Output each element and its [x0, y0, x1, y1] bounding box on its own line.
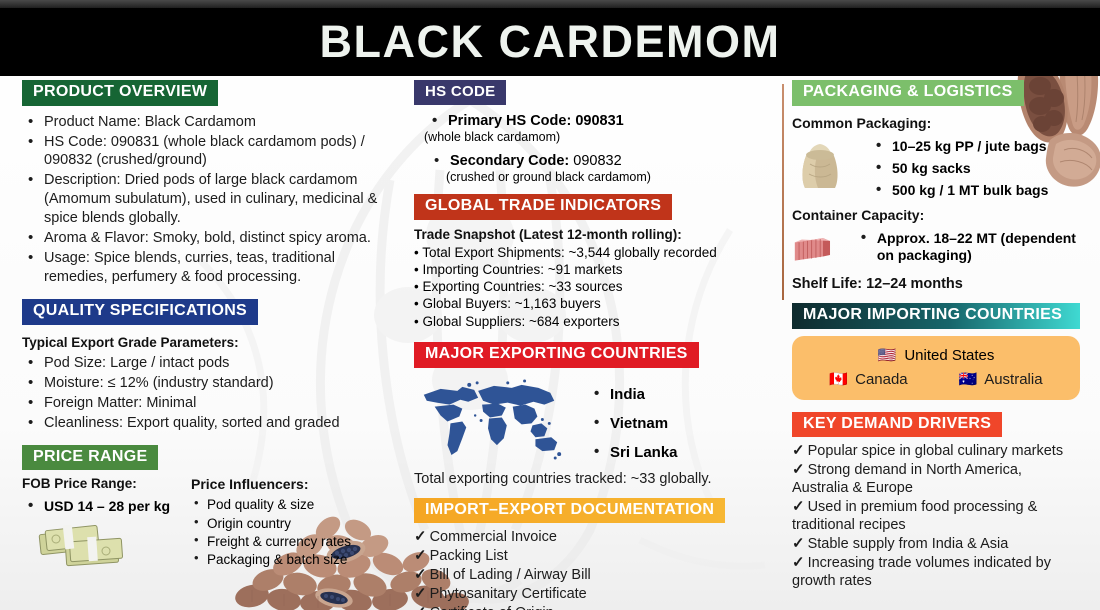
quality-specs-subtitle: Typical Export Grade Parameters:: [22, 335, 394, 350]
quality-specs-list: Pod Size: Large / intact pods Moisture: …: [22, 354, 394, 432]
major-exporting-heading: MAJOR EXPORTING COUNTRIES: [414, 342, 699, 368]
secondary-hs-list: Secondary Code: 090832: [428, 153, 774, 169]
major-importing-heading: MAJOR IMPORTING COUNTRIES: [792, 303, 1080, 329]
list-item: Origin country: [191, 515, 394, 532]
list-item: Description: Dried pods of large black c…: [22, 171, 394, 228]
common-packaging-body: 10–25 kg PP / jute bags 50 kg sacks 500 …: [792, 136, 1080, 199]
jute-sack-icon: [792, 136, 848, 192]
importing-country-label: Canada: [855, 371, 908, 388]
cash-stack-icon: [32, 518, 128, 574]
list-item: Moisture: ≤ 12% (industry standard): [22, 374, 394, 393]
primary-hs-code: Primary HS Code: 090831: [426, 113, 774, 129]
key-demand-list: ✓Popular spice in global culinary market…: [792, 442, 1080, 591]
demand-label: Strong demand in North America, Australi…: [792, 462, 1022, 496]
column-divider: [782, 84, 784, 300]
importing-country-australia: 🇦🇺 Australia: [959, 371, 1043, 388]
list-item: Foreign Matter: Minimal: [22, 394, 394, 413]
packaging-heading: PACKAGING & LOGISTICS: [792, 80, 1024, 106]
doc-label: Certificate of Origin: [430, 605, 554, 610]
import-export-doc-heading: IMPORT–EXPORT DOCUMENTATION: [414, 498, 725, 524]
list-item: Packaging & batch size: [191, 551, 394, 568]
list-item: • Global Buyers: ~1,163 buyers: [414, 295, 774, 312]
exporting-footnote: Total exporting countries tracked: ~33 g…: [414, 470, 774, 489]
shelf-life: Shelf Life: 12–24 months: [792, 276, 1080, 292]
check-icon: ✓: [414, 528, 427, 545]
flag-icon-united-states: 🇺🇸: [878, 348, 897, 363]
product-overview-heading: PRODUCT OVERVIEW: [22, 80, 218, 106]
trade-snapshot-subtitle: Trade Snapshot (Latest 12-month rolling)…: [414, 227, 774, 242]
list-item: Pod Size: Large / intact pods: [22, 354, 394, 373]
list-item: ✓Phytosanitary Certificate: [414, 585, 774, 604]
list-item: Pod quality & size: [191, 496, 394, 513]
shipping-container-icon: [792, 228, 833, 268]
exporting-countries-list: India Vietnam Sri Lanka: [588, 386, 678, 462]
left-column: PRODUCT OVERVIEW Product Name: Black Car…: [22, 80, 394, 574]
list-item: ✓Commercial Invoice: [414, 528, 774, 547]
secondary-hs-code: Secondary Code: 090832: [428, 153, 774, 169]
list-item: ✓Used in premium food processing & tradi…: [792, 498, 1080, 535]
fob-price-value: USD 14 – 28 per kg: [22, 498, 177, 514]
importing-country-canada: 🇨🇦 Canada: [829, 371, 907, 388]
common-packaging-list: 10–25 kg PP / jute bags 50 kg sacks 500 …: [870, 138, 1048, 199]
secondary-hs-label: Secondary Code:: [450, 153, 569, 169]
doc-label: Phytosanitary Certificate: [430, 586, 587, 602]
importing-row-primary: 🇺🇸 United States: [804, 347, 1068, 364]
list-item: • Exporting Countries: ~33 sources: [414, 278, 774, 295]
list-item: Product Name: Black Cardamom: [22, 113, 394, 132]
list-item: ✓Packing List: [414, 547, 774, 566]
right-column: PACKAGING & LOGISTICS Common Packaging: …: [792, 80, 1080, 591]
importing-country-label: Australia: [984, 371, 1042, 388]
container-capacity-body: Approx. 18–22 MT (dependent on packaging…: [792, 228, 1080, 268]
list-item: 50 kg sacks: [870, 160, 1048, 176]
page-header: BLACK CARDEMOM: [0, 8, 1100, 76]
demand-label: Popular spice in global culinary markets: [808, 443, 1064, 459]
list-item: • Importing Countries: ~91 markets: [414, 261, 774, 278]
primary-hs-note: (whole black cardamom): [424, 130, 774, 144]
list-item: Aroma & Flavor: Smoky, bold, distinct sp…: [22, 229, 394, 248]
secondary-hs-note: (crushed or ground black cardamom): [446, 170, 774, 184]
import-export-doc-list: ✓Commercial Invoice ✓Packing List ✓Bill …: [414, 528, 774, 610]
check-icon: ✓: [792, 461, 805, 478]
price-range-body: FOB Price Range: USD 14 – 28 per kg: [22, 476, 394, 574]
importing-country-label: United States: [904, 347, 994, 364]
flag-icon-canada: 🇨🇦: [829, 372, 848, 387]
price-influencers-list: Pod quality & size Origin country Freigh…: [191, 496, 394, 568]
check-icon: ✓: [414, 585, 427, 602]
doc-label: Commercial Invoice: [430, 529, 557, 545]
check-icon: ✓: [414, 604, 427, 610]
flag-icon-australia: 🇦🇺: [959, 372, 978, 387]
list-item: Usage: Spice blends, curries, teas, trad…: [22, 249, 394, 287]
list-item: ✓Certificate of Origin: [414, 604, 774, 610]
list-item: Freight & currency rates: [191, 533, 394, 550]
global-trade-heading: GLOBAL TRADE INDICATORS: [414, 194, 672, 220]
infographic-page: BLACK CARDEMOM PRODUCT OVERVIEW Product …: [0, 0, 1100, 610]
list-item: Approx. 18–22 MT (dependent on packaging…: [855, 230, 1080, 265]
importing-row-secondary: 🇨🇦 Canada 🇦🇺 Australia: [804, 371, 1068, 388]
fob-price-label: FOB Price Range:: [22, 476, 177, 491]
middle-column: HS CODE Primary HS Code: 090831 (whole b…: [414, 80, 774, 610]
major-exporting-body: India Vietnam Sri Lanka: [414, 376, 774, 462]
list-item: ✓Popular spice in global culinary market…: [792, 442, 1080, 461]
global-trade-list: • Total Export Shipments: ~3,544 globall…: [414, 244, 774, 330]
demand-label: Stable supply from India & Asia: [808, 536, 1009, 552]
secondary-hs-value: 090832: [569, 153, 621, 169]
list-item: Vietnam: [588, 415, 678, 432]
list-item: • Total Export Shipments: ~3,544 globall…: [414, 244, 774, 261]
list-item: ✓Stable supply from India & Asia: [792, 535, 1080, 554]
list-item: ✓Increasing trade volumes indicated by g…: [792, 554, 1080, 591]
list-item: • Global Suppliers: ~684 exporters: [414, 313, 774, 330]
container-capacity-label: Container Capacity:: [792, 207, 1080, 223]
product-overview-list: Product Name: Black Cardamom HS Code: 09…: [22, 113, 394, 287]
check-icon: ✓: [414, 547, 427, 564]
container-capacity-list: Approx. 18–22 MT (dependent on packaging…: [855, 230, 1080, 266]
importing-countries-card: 🇺🇸 United States 🇨🇦 Canada 🇦🇺 Australia: [792, 336, 1080, 400]
hs-code-list: Primary HS Code: 090831: [426, 113, 774, 129]
doc-label: Packing List: [430, 548, 508, 564]
list-item: Cleanliness: Export quality, sorted and …: [22, 414, 394, 433]
doc-label: Bill of Lading / Airway Bill: [430, 567, 591, 583]
page-title: BLACK CARDEMOM: [320, 16, 781, 68]
check-icon: ✓: [792, 498, 805, 515]
price-influencers-label: Price Influencers:: [191, 476, 394, 492]
check-icon: ✓: [792, 554, 805, 571]
list-item: 10–25 kg PP / jute bags: [870, 138, 1048, 154]
list-item: ✓Strong demand in North America, Austral…: [792, 461, 1080, 498]
list-item: 500 kg / 1 MT bulk bags: [870, 182, 1048, 198]
check-icon: ✓: [414, 566, 427, 583]
list-item: Sri Lanka: [588, 444, 678, 461]
list-item: India: [588, 386, 678, 403]
world-map-icon: [414, 376, 564, 460]
check-icon: ✓: [792, 535, 805, 552]
demand-label: Increasing trade volumes indicated by gr…: [792, 555, 1051, 589]
list-item: HS Code: 090831 (whole black cardamom po…: [22, 133, 394, 171]
quality-specs-heading: QUALITY SPECIFICATIONS: [22, 299, 258, 325]
demand-label: Used in premium food processing & tradit…: [792, 499, 1037, 533]
list-item: ✓Bill of Lading / Airway Bill: [414, 566, 774, 585]
key-demand-heading: KEY DEMAND DRIVERS: [792, 412, 1002, 438]
price-range-heading: PRICE RANGE: [22, 445, 158, 471]
check-icon: ✓: [792, 442, 805, 459]
hs-code-heading: HS CODE: [414, 80, 506, 105]
common-packaging-label: Common Packaging:: [792, 115, 1080, 131]
